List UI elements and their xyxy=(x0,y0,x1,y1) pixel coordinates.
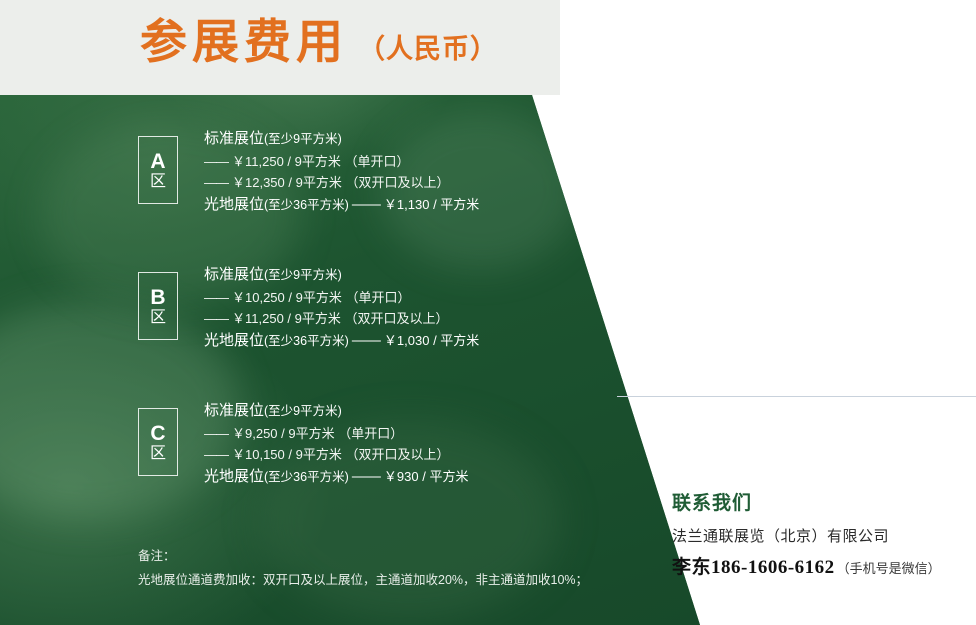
price-text: ￥11,250 / 9平方米 （双开口及以上） xyxy=(232,311,448,326)
zone-body-c: 标准展位(至少9平方米) ——￥9,250 / 9平方米 （单开口） ——￥10… xyxy=(204,400,608,489)
zone-block-b: B 区 标准展位(至少9平方米) ——￥10,250 / 9平方米 （单开口） … xyxy=(138,264,608,356)
page-title: 参展费用 （人民币） xyxy=(140,18,498,65)
zone-body-a: 标准展位(至少9平方米) ——￥11,250 / 9平方米 （单开口） ——￥1… xyxy=(204,128,608,217)
standard-booth-note: (至少9平方米) xyxy=(264,268,342,282)
zone-char: 区 xyxy=(150,173,166,191)
zone-block-a: A 区 标准展位(至少9平方米) ——￥11,250 / 9平方米 （单开口） … xyxy=(138,128,608,220)
dash-marker-icon: —— xyxy=(204,447,228,462)
raw-space-line: 光地展位(至少36平方米) ——￥1,130 / 平方米 xyxy=(204,193,608,217)
zone-letter: B xyxy=(150,286,165,309)
price-text: ￥10,250 / 9平方米 （单开口） xyxy=(232,290,410,305)
zone-badge-c: C 区 xyxy=(138,408,178,476)
dash-marker-icon: —— xyxy=(204,154,228,169)
standard-booth-label: 标准展位 xyxy=(204,130,264,147)
zone-badge-b: B 区 xyxy=(138,272,178,340)
page-title-currency: （人民币） xyxy=(358,36,498,63)
raw-space-line: 光地展位(至少36平方米) ——￥1,030 / 平方米 xyxy=(204,329,608,353)
standard-booth-label: 标准展位 xyxy=(204,266,264,283)
zone-block-c: C 区 标准展位(至少9平方米) ——￥9,250 / 9平方米 （单开口） —… xyxy=(138,400,608,492)
footnote-text: 光地展位通道费加收：双开口及以上展位，主通道加收20%，非主通道加收10%； xyxy=(138,569,588,593)
zone-char: 区 xyxy=(150,309,166,327)
standard-booth-heading: 标准展位(至少9平方米) xyxy=(204,128,608,151)
price-zone-list: A 区 标准展位(至少9平方米) ——￥11,250 / 9平方米 （单开口） … xyxy=(138,128,608,536)
dash-marker-icon: —— xyxy=(204,311,228,326)
raw-space-line: 光地展位(至少36平方米) ——￥930 / 平方米 xyxy=(204,465,608,489)
footnote-block: 备注： 光地展位通道费加收：双开口及以上展位，主通道加收20%，非主通道加收10… xyxy=(138,545,588,593)
raw-space-note: (至少36平方米) xyxy=(264,334,349,348)
standard-booth-price-double: ——￥12,350 / 9平方米 （双开口及以上） xyxy=(204,172,608,193)
standard-booth-price-double: ——￥11,250 / 9平方米 （双开口及以上） xyxy=(204,308,608,329)
standard-booth-heading: 标准展位(至少9平方米) xyxy=(204,264,608,287)
standard-booth-note: (至少9平方米) xyxy=(264,132,342,146)
raw-space-note: (至少36平方米) xyxy=(264,198,349,212)
raw-space-price: ￥1,030 / 平方米 xyxy=(384,333,479,348)
zone-letter: A xyxy=(150,150,165,173)
contact-title: 联系我们 xyxy=(672,488,972,515)
contact-company: 法兰通联展览（北京）有限公司 xyxy=(672,525,972,546)
standard-booth-heading: 标准展位(至少9平方米) xyxy=(204,400,608,423)
raw-space-price: ￥930 / 平方米 xyxy=(384,469,469,484)
dash-marker-icon: —— xyxy=(204,290,228,305)
dash-marker-icon: —— xyxy=(204,426,228,441)
zone-char: 区 xyxy=(150,445,166,463)
price-text: ￥11,250 / 9平方米 （单开口） xyxy=(232,154,409,169)
raw-space-note: (至少36平方米) xyxy=(264,470,349,484)
raw-space-label: 光地展位 xyxy=(204,196,264,213)
zone-letter: C xyxy=(150,422,165,445)
price-text: ￥9,250 / 9平方米 （单开口） xyxy=(232,426,403,441)
contact-person-phone[interactable]: 李东186-1606-6162 xyxy=(672,552,835,579)
contact-wechat-note: （手机号是微信） xyxy=(837,558,941,579)
raw-space-label: 光地展位 xyxy=(204,332,264,349)
footnote-label: 备注： xyxy=(138,545,588,569)
standard-booth-price-single: ——￥9,250 / 9平方米 （单开口） xyxy=(204,423,608,444)
standard-booth-note: (至少9平方米) xyxy=(264,404,342,418)
dash-marker-icon: —— xyxy=(349,196,380,213)
contact-block: 联系我们 法兰通联展览（北京）有限公司 李东186-1606-6162 （手机号… xyxy=(672,488,972,579)
standard-booth-label: 标准展位 xyxy=(204,402,264,419)
dash-marker-icon: —— xyxy=(349,468,380,485)
raw-space-label: 光地展位 xyxy=(204,468,264,485)
page-title-main: 参展费用 xyxy=(140,18,348,65)
dash-marker-icon: —— xyxy=(204,175,228,190)
poster-page: 参展费用 （人民币） A 区 标准展位(至少9平方米) ——￥11,250 / … xyxy=(0,0,976,625)
standard-booth-price-single: ——￥10,250 / 9平方米 （单开口） xyxy=(204,287,608,308)
price-text: ￥10,150 / 9平方米 （双开口及以上） xyxy=(232,447,449,462)
price-text: ￥12,350 / 9平方米 （双开口及以上） xyxy=(232,175,449,190)
contact-phone-line: 李东186-1606-6162 （手机号是微信） xyxy=(672,552,972,579)
zone-badge-a: A 区 xyxy=(138,136,178,204)
dash-marker-icon: —— xyxy=(349,332,380,349)
standard-booth-price-double: ——￥10,150 / 9平方米 （双开口及以上） xyxy=(204,444,608,465)
standard-booth-price-single: ——￥11,250 / 9平方米 （单开口） xyxy=(204,151,608,172)
divider xyxy=(617,396,976,397)
zone-body-b: 标准展位(至少9平方米) ——￥10,250 / 9平方米 （单开口） ——￥1… xyxy=(204,264,608,353)
raw-space-price: ￥1,130 / 平方米 xyxy=(384,197,479,212)
